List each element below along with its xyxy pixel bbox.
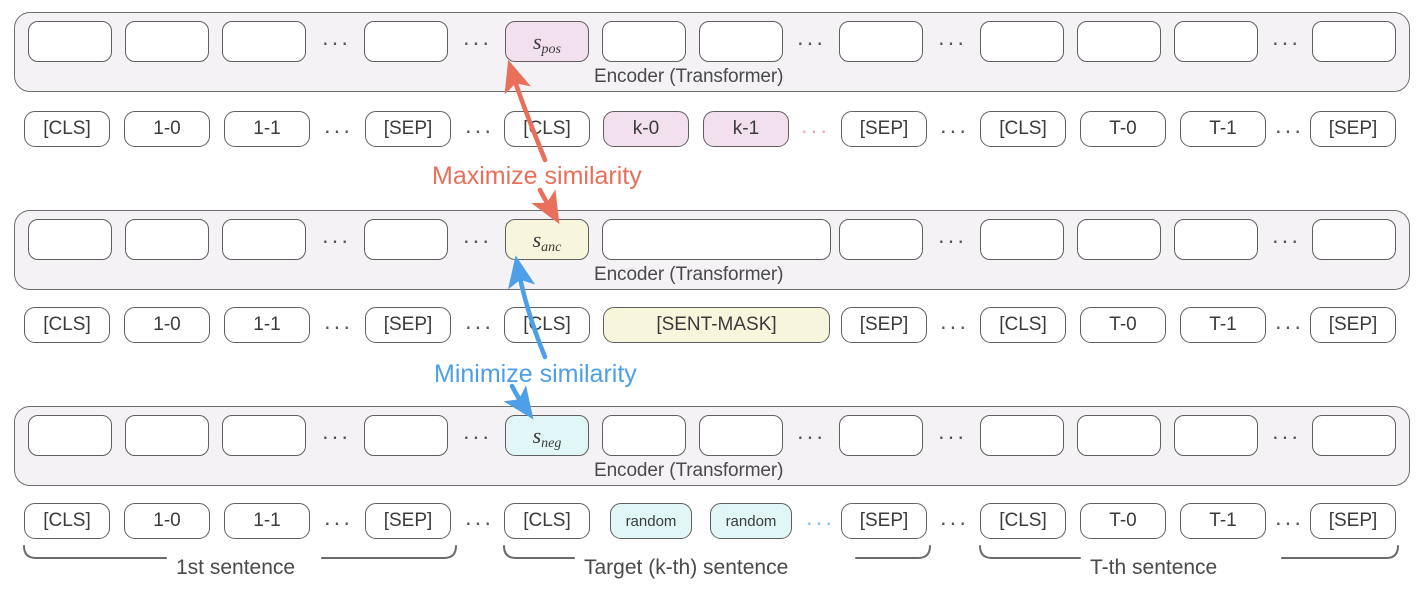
hidden-state (222, 415, 306, 456)
token-sep[interactable]: [SEP] (1310, 503, 1396, 539)
token-cls[interactable]: [CLS] (980, 307, 1066, 343)
token[interactable]: 1-1 (224, 307, 310, 343)
hidden-state-s-anc: sanc (505, 219, 589, 260)
token[interactable]: 1-0 (124, 503, 210, 539)
token-cls[interactable]: [CLS] (24, 111, 110, 147)
ellipsis: ··· (1271, 315, 1307, 337)
token-sep[interactable]: [SEP] (1310, 307, 1396, 343)
hidden-state (602, 415, 686, 456)
token-cls[interactable]: [CLS] (504, 111, 590, 147)
ellipsis: ··· (932, 31, 972, 53)
ellipsis: ··· (795, 119, 835, 141)
encoder-label-anchor: Encoder (Transformer) (594, 264, 783, 286)
hidden-state (980, 219, 1064, 260)
hidden-state (1077, 219, 1161, 260)
ellipsis: ··· (457, 229, 497, 251)
s-pos-symbol: spos (533, 31, 561, 53)
token[interactable]: 1-1 (224, 503, 310, 539)
token-sep[interactable]: [SEP] (1310, 111, 1396, 147)
hidden-state (125, 415, 209, 456)
ellipsis: ··· (791, 31, 831, 53)
hidden-state (1174, 219, 1258, 260)
token[interactable]: T-0 (1080, 503, 1166, 539)
hidden-state (699, 415, 783, 456)
token-cls[interactable]: [CLS] (980, 111, 1066, 147)
token-random[interactable]: random (610, 503, 692, 539)
hidden-state (1174, 21, 1258, 62)
token-sep[interactable]: [SEP] (841, 307, 927, 343)
token-sent-mask[interactable]: [SENT-MASK] (603, 307, 830, 343)
token-sep[interactable]: [SEP] (365, 503, 451, 539)
hidden-state (1174, 415, 1258, 456)
hidden-state (1312, 21, 1396, 62)
token-sep[interactable]: [SEP] (841, 503, 927, 539)
token-random[interactable]: random (710, 503, 792, 539)
minimize-similarity-label: Minimize similarity (434, 360, 637, 389)
brace-label-target-sentence: Target (k-th) sentence (578, 556, 794, 580)
ellipsis: ··· (457, 31, 497, 53)
hidden-state-s-pos: spos (505, 21, 589, 62)
ellipsis: ··· (1266, 31, 1306, 53)
hidden-state (125, 21, 209, 62)
token[interactable]: T-1 (1180, 307, 1266, 343)
hidden-state (980, 415, 1064, 456)
ellipsis: ··· (934, 315, 974, 337)
ellipsis: ··· (459, 119, 499, 141)
token[interactable]: T-1 (1180, 111, 1266, 147)
ellipsis: ··· (316, 229, 356, 251)
ellipsis: ··· (1271, 511, 1307, 533)
hidden-state-wide (602, 219, 831, 260)
hidden-state (222, 21, 306, 62)
hidden-state (222, 219, 306, 260)
hidden-state (364, 415, 448, 456)
ellipsis: ··· (457, 425, 497, 447)
brace-label-tth-sentence: T-th sentence (1084, 556, 1223, 580)
token-cls[interactable]: [CLS] (504, 503, 590, 539)
ellipsis: ··· (800, 511, 840, 533)
hidden-state (839, 21, 923, 62)
hidden-state (364, 219, 448, 260)
encoder-label-negative: Encoder (Transformer) (594, 460, 783, 482)
token-cls[interactable]: [CLS] (24, 503, 110, 539)
maximize-similarity-label: Maximize similarity (432, 162, 642, 191)
ellipsis: ··· (318, 119, 358, 141)
hidden-state (28, 219, 112, 260)
token[interactable]: T-1 (1180, 503, 1266, 539)
ellipsis: ··· (1271, 119, 1307, 141)
hidden-state (1077, 21, 1161, 62)
token[interactable]: T-0 (1080, 307, 1166, 343)
ellipsis: ··· (1266, 425, 1306, 447)
s-neg-symbol: sneg (533, 425, 562, 447)
ellipsis: ··· (316, 31, 356, 53)
hidden-state (125, 219, 209, 260)
ellipsis: ··· (318, 511, 358, 533)
token-cls[interactable]: [CLS] (24, 307, 110, 343)
ellipsis: ··· (934, 511, 974, 533)
token-sep[interactable]: [SEP] (365, 111, 451, 147)
ellipsis: ··· (932, 229, 972, 251)
ellipsis: ··· (791, 425, 831, 447)
hidden-state (28, 21, 112, 62)
token[interactable]: 1-0 (124, 111, 210, 147)
token[interactable]: 1-1 (224, 111, 310, 147)
ellipsis: ··· (932, 425, 972, 447)
hidden-state (839, 219, 923, 260)
hidden-state (602, 21, 686, 62)
token-cls[interactable]: [CLS] (980, 503, 1066, 539)
token-sep[interactable]: [SEP] (365, 307, 451, 343)
hidden-state-s-neg: sneg (505, 415, 589, 456)
hidden-state (364, 21, 448, 62)
hidden-state (1077, 415, 1161, 456)
hidden-state (1312, 219, 1396, 260)
token-k-0[interactable]: k-0 (603, 111, 689, 147)
token[interactable]: T-0 (1080, 111, 1166, 147)
diagram-canvas: Encoder (Transformer) ··· ··· spos ··· ·… (0, 0, 1423, 589)
s-anc-symbol: sanc (533, 229, 562, 251)
hidden-state (980, 21, 1064, 62)
ellipsis: ··· (1266, 229, 1306, 251)
hidden-state (699, 21, 783, 62)
ellipsis: ··· (318, 315, 358, 337)
hidden-state (28, 415, 112, 456)
ellipsis: ··· (316, 425, 356, 447)
brace-label-first-sentence: 1st sentence (170, 556, 301, 580)
token-sep[interactable]: [SEP] (841, 111, 927, 147)
ellipsis: ··· (459, 511, 499, 533)
token-cls[interactable]: [CLS] (504, 307, 590, 343)
ellipsis: ··· (459, 315, 499, 337)
hidden-state (839, 415, 923, 456)
encoder-label-positive: Encoder (Transformer) (594, 66, 783, 88)
token[interactable]: 1-0 (124, 307, 210, 343)
token-k-1[interactable]: k-1 (703, 111, 789, 147)
ellipsis: ··· (934, 119, 974, 141)
hidden-state (1312, 415, 1396, 456)
